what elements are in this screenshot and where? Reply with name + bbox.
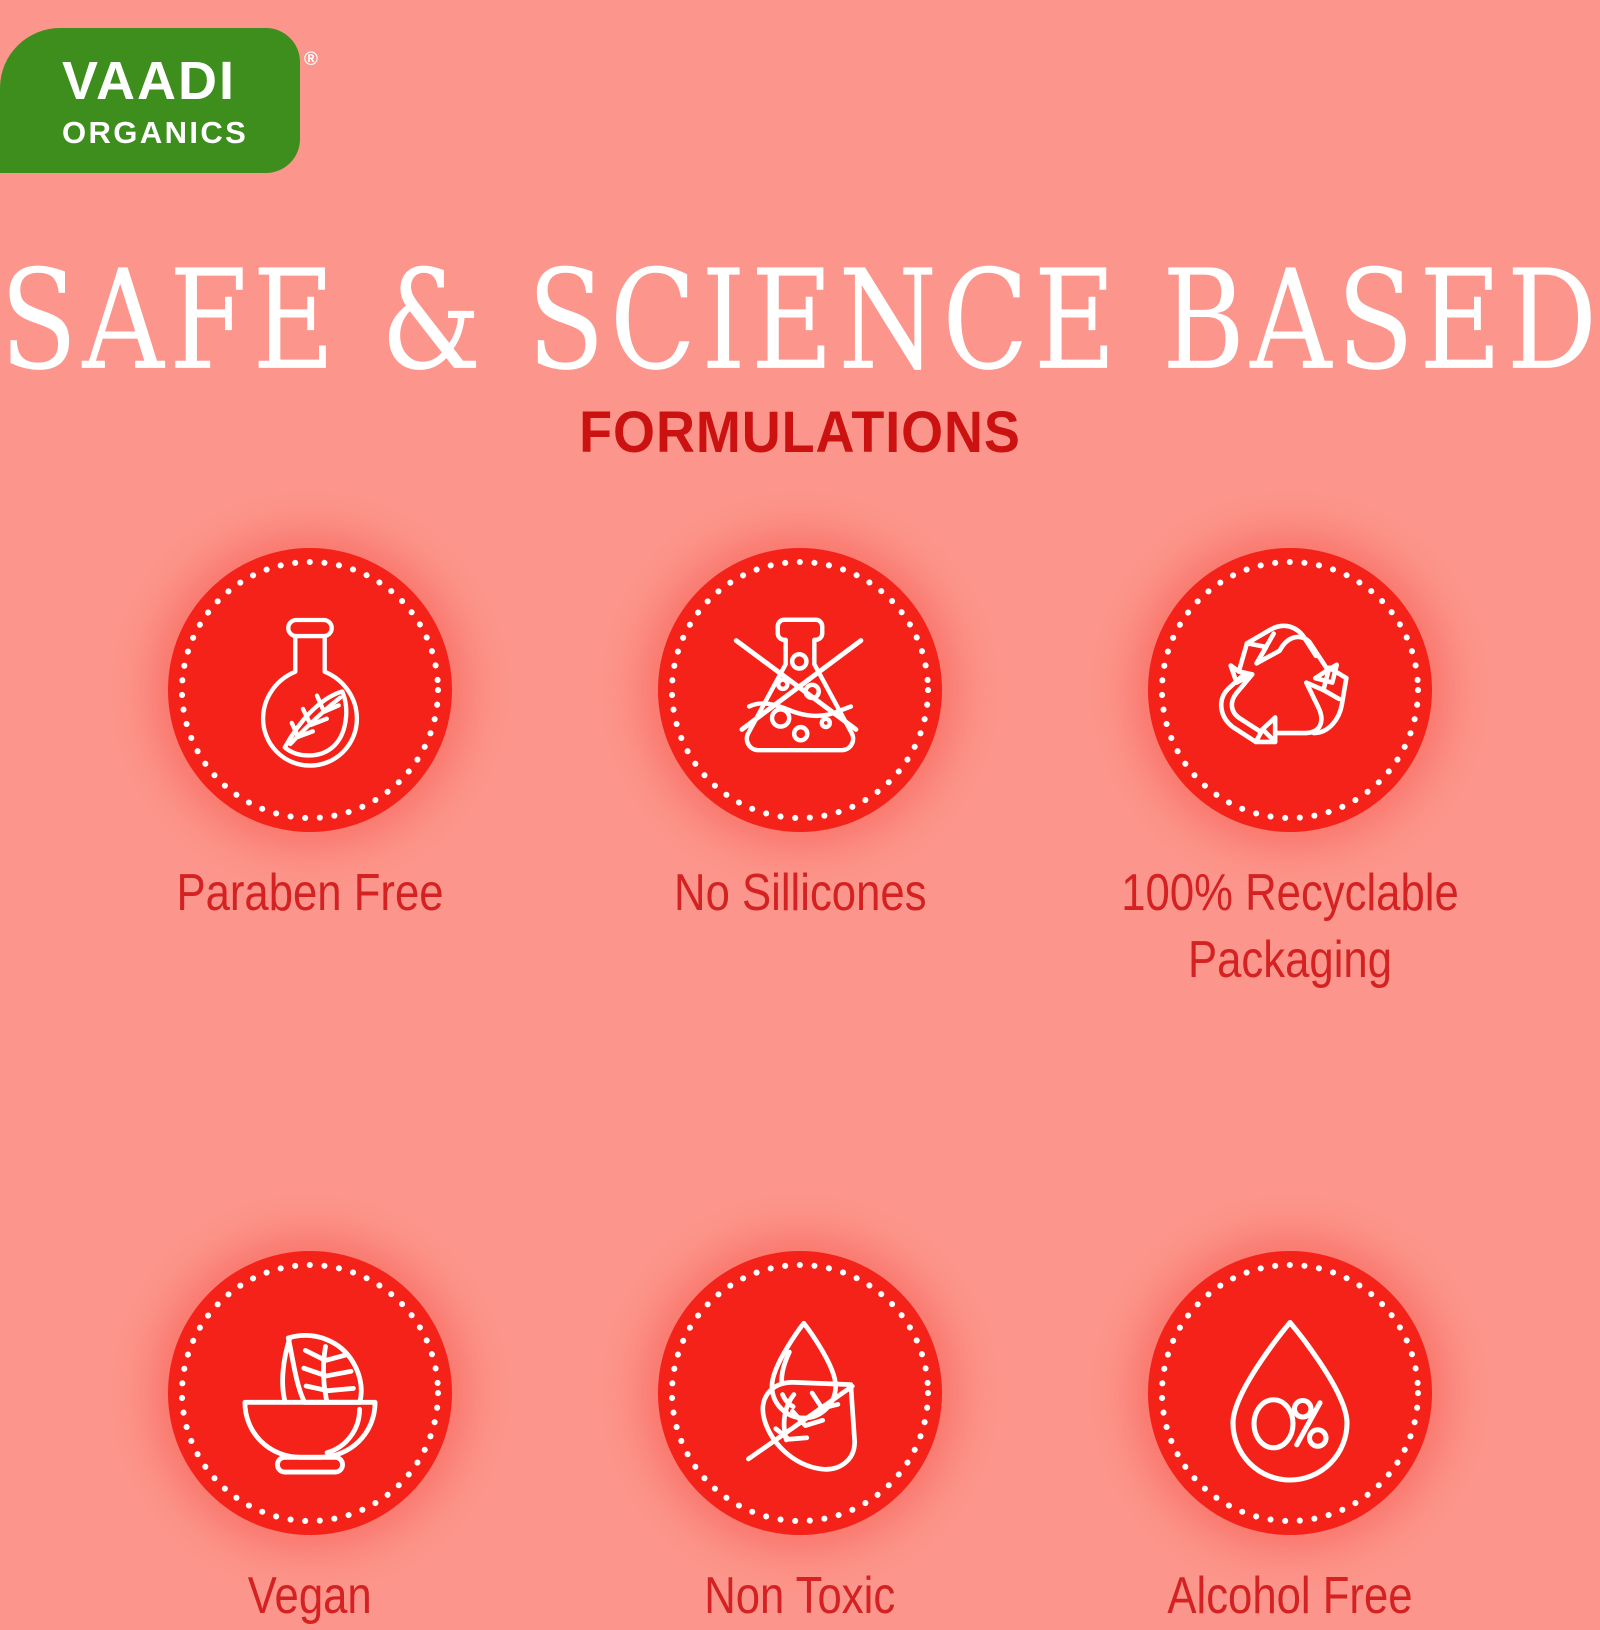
bowl-leaf-icon [217, 1300, 403, 1486]
feature-label: 100% Recyclable Packaging [1093, 860, 1488, 993]
brand-name-text: VAADI [62, 51, 236, 111]
feature-badge [168, 1251, 452, 1535]
feature-grid: Paraben Free No Sillicones [65, 548, 1535, 1630]
feature-item: 100% Recyclable Packaging [1045, 548, 1535, 993]
flask-leaf-icon [226, 606, 394, 774]
droplet-leaf-icon [709, 1302, 891, 1484]
feature-item: Vegan [65, 1251, 555, 1630]
feature-label: No Sillicones [674, 860, 926, 927]
feature-item: Non Toxic [555, 1251, 1045, 1630]
feature-badge [658, 548, 942, 832]
crossed-out-flask-icon [714, 604, 886, 776]
page-title: SAFE & SCIENCE BASED [0, 252, 1600, 390]
brand-tagline: ORGANICS [62, 117, 300, 148]
page-subtitle: FORMULATIONS [56, 404, 1544, 462]
feature-badge [658, 1251, 942, 1535]
feature-label: Vegan [248, 1563, 372, 1630]
brand-logo: VAADI ® ORGANICS [0, 28, 300, 173]
feature-label: Non Toxic [705, 1563, 896, 1630]
feature-label: Alcohol Free [1167, 1563, 1412, 1630]
feature-badge [168, 548, 452, 832]
brand-name: VAADI ® [62, 54, 300, 108]
registered-trademark-icon: ® [304, 50, 320, 69]
feature-badge [1148, 1251, 1432, 1535]
feature-label: Paraben Free [176, 860, 443, 927]
droplet-zero-percent-icon [1200, 1303, 1380, 1483]
feature-item: Alcohol Free [1045, 1251, 1535, 1630]
feature-item: No Sillicones [555, 548, 1045, 993]
recycle-icon [1201, 601, 1379, 779]
feature-item: Paraben Free [65, 548, 555, 993]
feature-badge [1148, 548, 1432, 832]
